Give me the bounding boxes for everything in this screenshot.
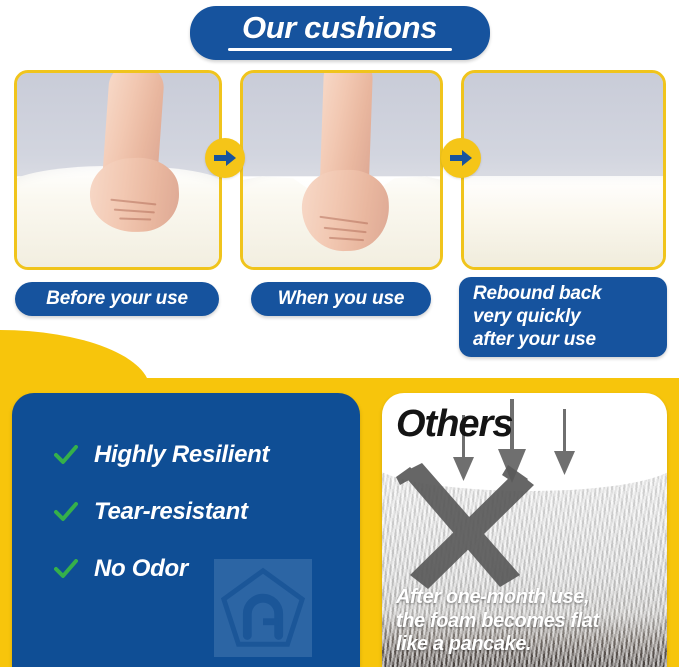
others-caption-line: After one-month use, — [396, 586, 659, 610]
feature-item: No Odor — [54, 555, 188, 583]
arrow-right-icon — [441, 138, 481, 178]
title-underline — [228, 48, 452, 51]
caption-line: Rebound back — [473, 282, 602, 305]
knuckle-line — [329, 237, 364, 241]
ours-feature-panel: Highly Resilient Tear-resistant No Odor — [12, 393, 360, 667]
feature-label: No Odor — [94, 555, 188, 583]
x-cross-brush-icon — [388, 455, 538, 595]
others-caption: After one-month use, the foam becomes fl… — [396, 586, 659, 657]
feature-label: Tear-resistant — [94, 498, 248, 526]
demo-photo-row — [0, 70, 679, 270]
caption-rebound-back: Rebound back very quickly after your use — [459, 277, 667, 357]
title-pill: Our cushions — [190, 6, 490, 60]
caption-text-block: Rebound back very quickly after your use — [473, 282, 602, 352]
caption-line: very quickly — [473, 305, 602, 328]
check-icon — [54, 502, 78, 522]
step-photo-rebounded — [461, 70, 666, 270]
caption-before-your-use: Before your use — [15, 282, 219, 316]
knuckle-line — [320, 216, 368, 225]
step-photo-pressing — [240, 70, 443, 270]
caption-text: When you use — [278, 288, 404, 310]
caption-line: after your use — [473, 328, 602, 351]
page-title: Our cushions — [0, 6, 679, 60]
others-title: Others — [396, 403, 512, 446]
caption-when-you-use: When you use — [251, 282, 431, 316]
feature-label: Highly Resilient — [94, 441, 269, 469]
feature-item: Highly Resilient — [54, 441, 269, 469]
title-text: Our cushions — [224, 12, 456, 45]
knuckle-line — [119, 218, 151, 221]
knuckle-line — [110, 199, 156, 206]
foam-surface-flat — [461, 176, 666, 267]
knuckle-line — [114, 209, 155, 214]
others-caption-line: like a pancake. — [396, 633, 659, 657]
pentagon-arch-logo-watermark — [214, 559, 312, 657]
others-caption-line: the foam becomes flat — [396, 610, 659, 634]
check-icon — [54, 559, 78, 579]
feature-item: Tear-resistant — [54, 498, 248, 526]
knuckle-line — [324, 226, 367, 233]
others-comparison-panel: Others After one-month use, the foam bec… — [382, 393, 667, 667]
arrow-right-icon — [205, 138, 245, 178]
step-photo-before — [14, 70, 222, 270]
caption-text: Before your use — [46, 288, 188, 310]
check-icon — [54, 445, 78, 465]
